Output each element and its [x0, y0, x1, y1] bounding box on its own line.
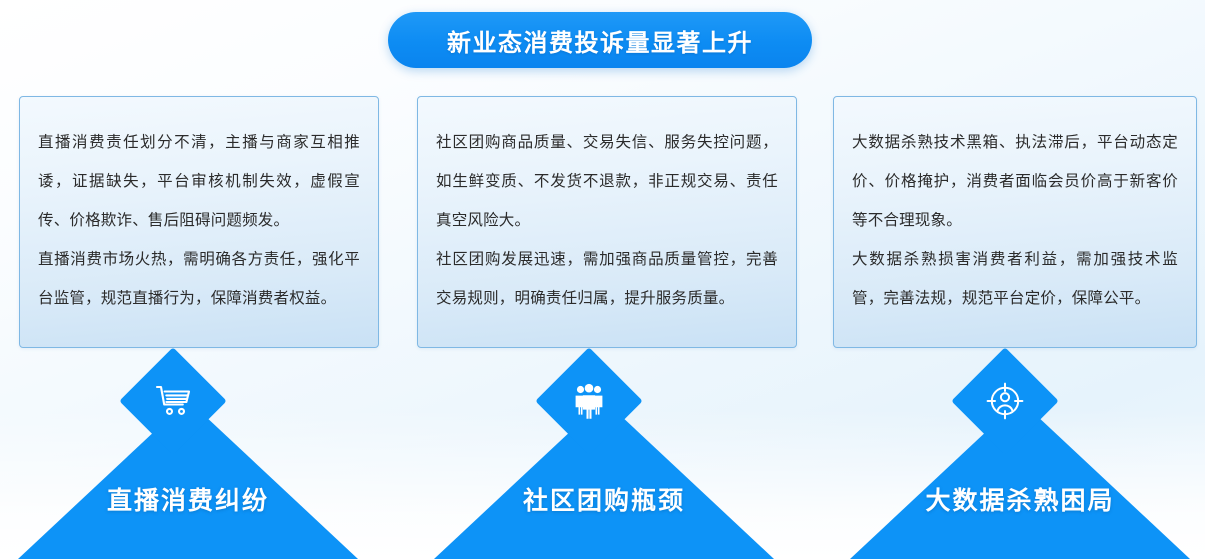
card-live-commerce: 直播消费责任划分不清，主播与商家互相推诿，证据缺失，平台审核机制失效，虚假宣传、… — [19, 96, 379, 348]
card-big-data-price-discrimination: 大数据杀熟技术黑箱、执法滞后，平台动态定价、价格掩护，消费者面临会员价高于新客价… — [833, 96, 1197, 348]
background-right-strip — [1205, 0, 1224, 559]
infographic-canvas: 新业态消费投诉量显著上升 直播消费责任划分不清，主播与商家互相推诿，证据缺失，平… — [0, 0, 1224, 559]
card-paragraph: 社区团购商品质量、交易失信、服务失控问题，如生鲜变质、不发货不退款，非正规交易、… — [436, 123, 778, 240]
pyramid-label: 社区团购瓶颈 — [434, 481, 774, 517]
card-paragraph: 大数据杀熟损害消费者利益，需加强技术监管，完善法规，规范平台定价，保障公平。 — [852, 240, 1178, 318]
pyramid-live-commerce: 直播消费纠纷 — [18, 355, 358, 559]
page-title: 新业态消费投诉量显著上升 — [447, 23, 753, 58]
pyramid-community-group-buying: 社区团购瓶颈 — [434, 355, 774, 559]
pyramid-label: 大数据杀熟困局 — [850, 481, 1190, 517]
card-community-group-buying: 社区团购商品质量、交易失信、服务失控问题，如生鲜变质、不发货不退款，非正规交易、… — [417, 96, 797, 348]
card-paragraph: 直播消费市场火热，需明确各方责任，强化平台监管，规范直播行为，保障消费者权益。 — [38, 240, 360, 318]
card-paragraph: 社区团购发展迅速，需加强商品质量管控，完善交易规则，明确责任归属，提升服务质量。 — [436, 240, 778, 318]
card-paragraph: 大数据杀熟技术黑箱、执法滞后，平台动态定价、价格掩护，消费者面临会员价高于新客价… — [852, 123, 1178, 240]
card-paragraph: 直播消费责任划分不清，主播与商家互相推诿，证据缺失，平台审核机制失效，虚假宣传、… — [38, 123, 360, 240]
pyramid-big-data-price-discrimination: 大数据杀熟困局 — [850, 355, 1190, 559]
page-title-pill: 新业态消费投诉量显著上升 — [388, 12, 812, 68]
pyramid-label: 直播消费纠纷 — [18, 481, 358, 517]
